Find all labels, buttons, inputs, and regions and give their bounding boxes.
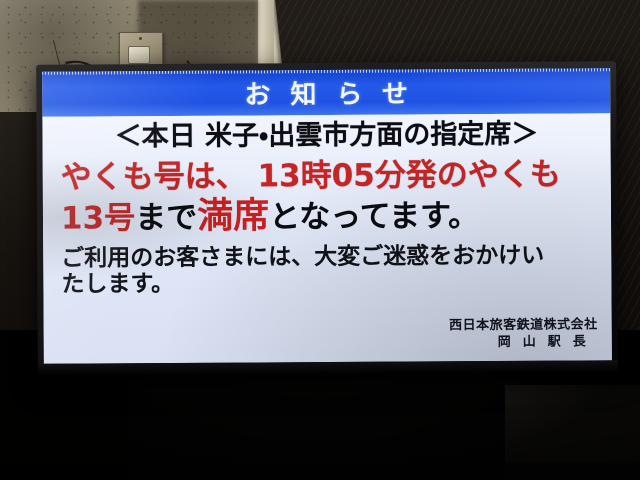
notice-heading: ＜本日 米子・出雲市方面の指定席＞ xyxy=(56,120,596,152)
notice-line-status: 13号まで満席となってます。 xyxy=(61,196,597,237)
signature-station-master: 岡山駅長 xyxy=(449,335,598,352)
full-seats-emphasis: 満席 xyxy=(197,196,269,237)
lcd-screen: お知らせ ＜本日 米子・出雲市方面の指定席＞ やくも号は、 13時05分発のやく… xyxy=(42,68,612,363)
range-particle-text: まで xyxy=(135,200,197,236)
signature-block: 西日本旅客鉄道株式会社 岡山駅長 xyxy=(449,319,598,351)
notice-banner: お知らせ xyxy=(42,68,610,116)
train-number-text: 13号 xyxy=(61,201,135,237)
apology-line-2: たします。 xyxy=(61,269,597,297)
banner-title: お知らせ xyxy=(224,73,428,111)
signature-company: 西日本旅客鉄道株式会社 xyxy=(449,319,598,335)
apology-line-1: ご利用のお客さまには、大変ご迷惑をおかけい xyxy=(61,243,597,271)
status-suffix-text: となってます。 xyxy=(269,199,479,236)
outlet-screw xyxy=(139,37,142,40)
photo-scene: お知らせ ＜本日 米子・出雲市方面の指定席＞ やくも号は、 13時05分発のやく… xyxy=(0,0,640,480)
lcd-monitor: お知らせ ＜本日 米子・出雲市方面の指定席＞ やくも号は、 13時05分発のやく… xyxy=(36,61,618,375)
notice-line-train-time: やくも号は、 13時05分発のやくも xyxy=(61,158,597,194)
notice-body: ＜本日 米子・出雲市方面の指定席＞ やくも号は、 13時05分発のやくも 13号… xyxy=(42,113,611,363)
